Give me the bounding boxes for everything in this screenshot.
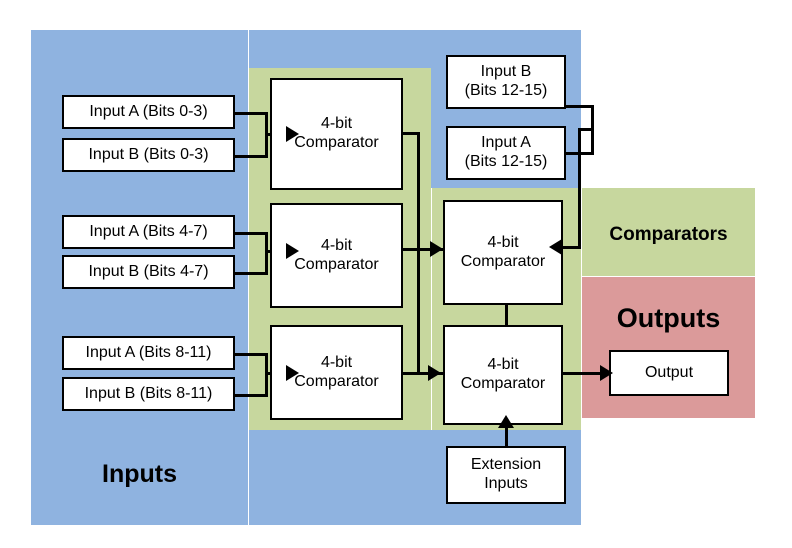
input-box-b-8-11[interactable]: Input B (Bits 8-11) <box>62 377 235 411</box>
wire-extension-inputs <box>505 425 508 448</box>
arrow-into-comp-final-bottom <box>498 415 514 428</box>
extension-inputs-line2: Inputs <box>484 475 528 494</box>
input-box-b-12-15[interactable]: Input B (Bits 12-15) <box>446 55 566 109</box>
wire-b12-15 <box>565 105 594 108</box>
input-box-a-4-7[interactable]: Input A (Bits 4-7) <box>62 215 235 249</box>
comparator-box-final-line1: 4-bit <box>487 356 518 375</box>
input-box-a-8-11[interactable]: Input A (Bits 8-11) <box>62 336 235 370</box>
arrow-into-comp-8-11 <box>286 365 299 381</box>
input-box-b-0-3[interactable]: Input B (Bits 0-3) <box>62 138 235 172</box>
arrow-into-comp-final-left <box>428 365 441 381</box>
comparator-box-0-3-line2: Comparator <box>294 134 378 153</box>
wire-12-15-down <box>578 128 581 248</box>
wire-comp8-11-out <box>403 372 448 375</box>
wire-join-4-7 <box>265 232 268 275</box>
wire-a8-11 <box>233 353 268 356</box>
comparator-box-4-7-line2: Comparator <box>294 256 378 275</box>
wire-b4-7 <box>233 272 268 275</box>
comparator-box-4-7-line1: 4-bit <box>321 237 352 256</box>
arrow-into-output <box>600 365 613 381</box>
arrow-into-comp-4-7 <box>286 243 299 259</box>
comparator-box-final[interactable]: 4-bit Comparator <box>443 325 563 425</box>
wire-b8-11 <box>233 394 268 397</box>
input-box-a-12-15-line1: Input A <box>481 134 531 153</box>
wire-12-15-join-h <box>578 128 594 131</box>
comparator-box-0-3-line1: 4-bit <box>321 115 352 134</box>
comparator-box-12-15-line1: 4-bit <box>487 234 518 253</box>
outputs-panel-label: Outputs <box>582 305 755 332</box>
wire-b0-3 <box>233 155 268 158</box>
wire-a4-7 <box>233 232 268 235</box>
input-box-b-12-15-line2: (Bits 12-15) <box>465 82 548 101</box>
wire-bus-vertical <box>417 132 420 374</box>
output-box[interactable]: Output <box>609 350 729 396</box>
comparators-panel-label: Comparators <box>582 225 755 244</box>
wire-comp12-15-to-final <box>505 304 508 326</box>
arrow-into-comp-12-15-right <box>549 239 562 255</box>
wire-a0-3 <box>233 112 268 115</box>
outputs-panel <box>582 277 755 418</box>
comparator-box-final-line2: Comparator <box>461 375 545 394</box>
comparator-box-8-11-line1: 4-bit <box>321 354 352 373</box>
arrow-into-comp-0-3 <box>286 126 299 142</box>
comparator-box-8-11-line2: Comparator <box>294 373 378 392</box>
extension-inputs-line1: Extension <box>471 456 541 475</box>
input-box-a-12-15[interactable]: Input A (Bits 12-15) <box>446 126 566 180</box>
input-box-b-12-15-line1: Input B <box>481 63 532 82</box>
inputs-panel-label: Inputs <box>31 462 248 487</box>
input-box-b-4-7[interactable]: Input B (Bits 4-7) <box>62 255 235 289</box>
comparator-block-diagram: Inputs Comparators Outputs Input A (Bits… <box>0 0 792 548</box>
comparator-box-12-15[interactable]: 4-bit Comparator <box>443 200 563 305</box>
extension-inputs-box[interactable]: Extension Inputs <box>446 446 566 504</box>
input-box-a-12-15-line2: (Bits 12-15) <box>465 153 548 172</box>
input-box-a-0-3[interactable]: Input A (Bits 0-3) <box>62 95 235 129</box>
arrow-into-comp-12-15-left <box>430 241 443 257</box>
wire-join-8-11 <box>265 353 268 397</box>
comparator-box-12-15-line2: Comparator <box>461 253 545 272</box>
